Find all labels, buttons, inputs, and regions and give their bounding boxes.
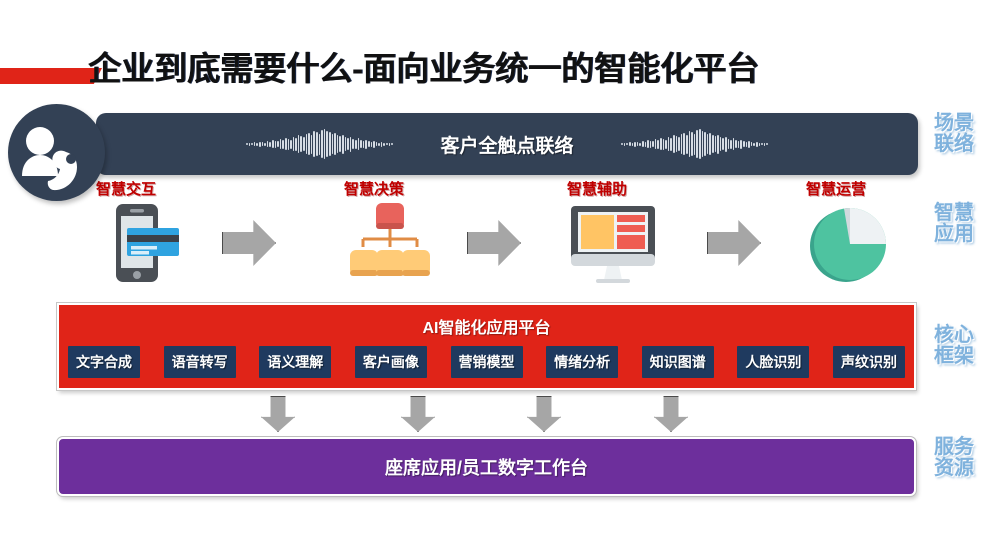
desktop-monitor-icon: [555, 198, 675, 290]
side-label-smart-application: 智慧 应用: [923, 203, 985, 245]
side-label-line-2: 应用: [923, 224, 985, 245]
side-label-line-2: 联络: [923, 134, 985, 155]
arrow-right-icon-2: [467, 218, 521, 268]
ai-capability-tag-row: 文字合成 语音转写 语义理解 客户画像 营销模型 情绪分析 知识图谱 人脸识别 …: [68, 345, 905, 379]
page-title: 企业到底需要什么-面向业务统一的智能化平台: [88, 42, 759, 90]
workbench-label: 座席应用/员工数字工作台: [385, 454, 588, 480]
workbench-bar: 座席应用/员工数字工作台: [57, 437, 916, 496]
ai-tag[interactable]: 营销模型: [451, 346, 523, 378]
pie-chart-icon: [790, 198, 910, 290]
audio-waveform-icon-right: [621, 127, 768, 161]
arrow-down-icon-3: [527, 396, 561, 432]
org-chart-icon: [330, 198, 450, 290]
arrow-down-icon-2: [401, 396, 435, 432]
ai-tag[interactable]: 情绪分析: [546, 346, 618, 378]
arrow-down-icon-4: [654, 396, 688, 432]
ai-tag[interactable]: 知识图谱: [642, 346, 714, 378]
stage-label-4: 智慧运营: [806, 178, 866, 199]
side-label-service-resources: 服务 资源: [923, 437, 985, 479]
contact-bar-label: 客户全触点联络: [96, 113, 918, 175]
arrow-down-icon-1: [261, 396, 295, 432]
stage-label-1: 智慧交互: [96, 178, 156, 199]
side-label-scene-contact: 场景 联络: [923, 113, 985, 155]
side-label-line-1: 场景: [923, 113, 985, 134]
mobile-payment-icon: [90, 198, 210, 290]
side-label-core-framework: 核心 框架: [923, 325, 985, 367]
stage-label-2: 智慧决策: [344, 178, 404, 199]
ai-tag[interactable]: 语义理解: [259, 346, 331, 378]
customer-contact-bar: 客户全触点联络: [96, 113, 918, 175]
arrow-right-icon-1: [222, 218, 276, 268]
title-accent-bar: [0, 68, 102, 84]
ai-platform-title: AI智能化应用平台: [59, 314, 914, 338]
ai-tag[interactable]: 声纹识别: [833, 346, 905, 378]
side-label-line-1: 核心: [923, 325, 985, 346]
slide-canvas: 企业到底需要什么-面向业务统一的智能化平台 客户全触点联络 智慧交互 智慧决策 …: [0, 0, 991, 536]
side-label-line-1: 服务: [923, 437, 985, 458]
side-label-line-2: 框架: [923, 346, 985, 367]
ai-tag[interactable]: 客户画像: [355, 346, 427, 378]
stage-label-3: 智慧辅助: [567, 178, 627, 199]
ai-platform-box: AI智能化应用平台 文字合成 语音转写 语义理解 客户画像 营销模型 情绪分析 …: [57, 303, 916, 390]
side-label-line-1: 智慧: [923, 203, 985, 224]
ai-tag[interactable]: 人脸识别: [737, 346, 809, 378]
arrow-right-icon-3: [707, 218, 761, 268]
ai-tag[interactable]: 文字合成: [68, 346, 140, 378]
side-label-line-2: 资源: [923, 458, 985, 479]
customer-service-agent-icon: [8, 104, 105, 201]
ai-tag[interactable]: 语音转写: [164, 346, 236, 378]
